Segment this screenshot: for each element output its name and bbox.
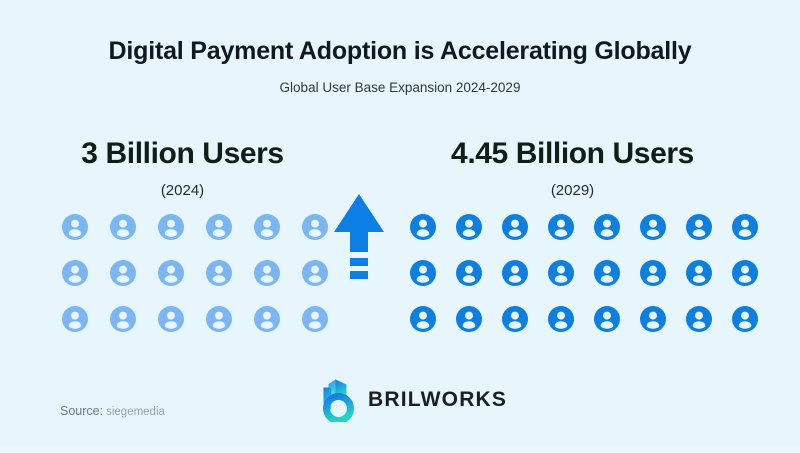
pictogram-grid-2024 xyxy=(62,214,350,352)
infographic-canvas: Digital Payment Adoption is Accelerating… xyxy=(0,0,800,453)
header: Digital Payment Adoption is Accelerating… xyxy=(0,34,800,98)
person-icon xyxy=(302,306,350,352)
person-icon xyxy=(686,214,732,260)
person-icon xyxy=(158,214,206,260)
person-icon xyxy=(254,214,302,260)
person-icon xyxy=(732,306,778,352)
person-icon xyxy=(110,306,158,352)
brilworks-logo-mark-icon xyxy=(322,378,359,422)
person-icon xyxy=(158,306,206,352)
person-icon xyxy=(548,306,594,352)
person-icon xyxy=(62,260,110,306)
person-icon xyxy=(410,260,456,306)
brilworks-wordmark: BRILWORKS xyxy=(368,388,507,412)
source-label: Source: xyxy=(60,404,103,418)
source-credit: Source:siegemedia xyxy=(60,402,165,421)
person-icon xyxy=(640,306,686,352)
person-icon xyxy=(206,260,254,306)
pictogram-grid-2029 xyxy=(410,214,778,352)
growth-arrow-up-icon xyxy=(333,190,385,282)
person-icon xyxy=(206,214,254,260)
person-icon xyxy=(110,214,158,260)
person-icon xyxy=(62,306,110,352)
person-icon xyxy=(686,260,732,306)
person-icon xyxy=(640,214,686,260)
source-name: siegemedia xyxy=(106,406,165,418)
person-icon xyxy=(62,214,110,260)
person-icon xyxy=(640,260,686,306)
person-icon xyxy=(410,214,456,260)
person-icon xyxy=(686,306,732,352)
person-icon xyxy=(594,260,640,306)
person-icon xyxy=(502,306,548,352)
person-icon xyxy=(254,260,302,306)
stat-value-2024: 3 Billion Users xyxy=(30,134,335,174)
person-icon xyxy=(110,260,158,306)
person-icon xyxy=(456,260,502,306)
person-icon xyxy=(502,214,548,260)
person-icon xyxy=(732,260,778,306)
brilworks-logo[interactable]: BRILWORKS xyxy=(322,378,507,422)
page-title: Digital Payment Adoption is Accelerating… xyxy=(0,34,800,68)
person-icon xyxy=(456,214,502,260)
page-subtitle: Global User Base Expansion 2024-2029 xyxy=(0,78,800,98)
person-icon xyxy=(158,260,206,306)
person-icon xyxy=(594,214,640,260)
person-icon xyxy=(254,306,302,352)
person-icon xyxy=(548,214,594,260)
bottom-edge-strip xyxy=(0,447,800,453)
person-icon xyxy=(410,306,456,352)
stat-block-2029: 4.45 Billion Users (2029) xyxy=(400,134,745,202)
person-icon xyxy=(732,214,778,260)
person-icon xyxy=(594,306,640,352)
stat-year-2024: (2024) xyxy=(30,180,335,202)
stat-year-2029: (2029) xyxy=(400,180,745,202)
person-icon xyxy=(548,260,594,306)
stat-value-2029: 4.45 Billion Users xyxy=(400,134,745,174)
person-icon xyxy=(456,306,502,352)
person-icon xyxy=(206,306,254,352)
stat-block-2024: 3 Billion Users (2024) xyxy=(30,134,335,202)
person-icon xyxy=(502,260,548,306)
